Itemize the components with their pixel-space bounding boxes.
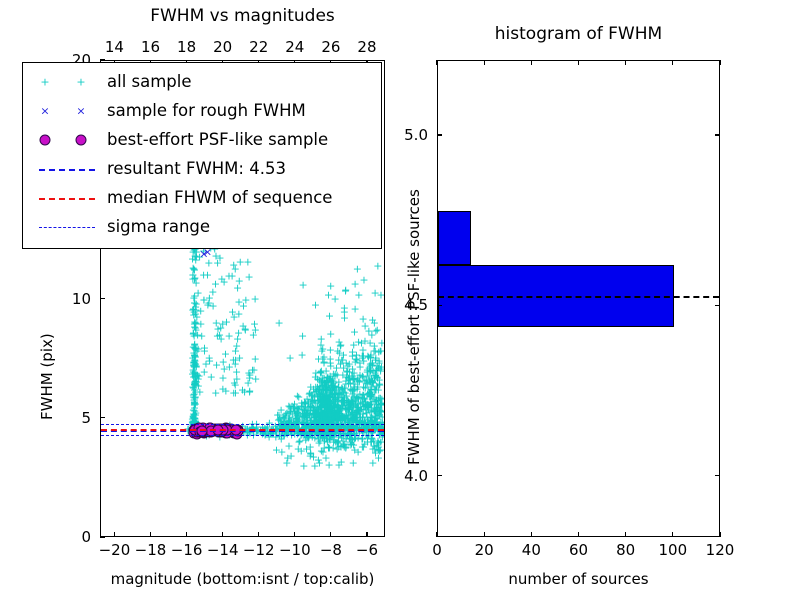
scatter-point: + bbox=[325, 460, 334, 471]
bottom-axis-tick-label: −16 bbox=[171, 541, 203, 559]
scatter-point: + bbox=[205, 356, 214, 367]
scatter-point: + bbox=[299, 460, 308, 471]
plus-icon: + + bbox=[29, 67, 107, 96]
scatter-point: + bbox=[326, 353, 335, 364]
histogram-top-tick bbox=[436, 60, 437, 65]
scatter-point: + bbox=[325, 310, 334, 321]
scatter-point: + bbox=[234, 296, 243, 307]
histogram-top-tick bbox=[578, 60, 579, 65]
histogram-x-tick-label: 0 bbox=[432, 541, 442, 559]
scatter-point: + bbox=[193, 369, 202, 380]
histogram-x-tick bbox=[484, 532, 485, 537]
histogram-top-tick bbox=[531, 60, 532, 65]
bottom-axis-tick bbox=[258, 532, 259, 537]
legend-label: best-effort PSF-like sample bbox=[107, 130, 328, 149]
scatter-point: + bbox=[345, 367, 354, 378]
histogram-x-tick-label: 100 bbox=[659, 541, 688, 559]
top-axis-tick-label: 24 bbox=[285, 38, 304, 56]
bottom-axis-tick bbox=[186, 532, 187, 537]
left-y-axis-tick bbox=[100, 417, 105, 418]
histogram-plot-area bbox=[438, 61, 719, 536]
top-axis-tick-label: 16 bbox=[141, 38, 160, 56]
right-ylabel: FWHM of best-effort PSF-like sources bbox=[405, 189, 423, 465]
histogram-top-tick bbox=[672, 60, 673, 65]
left-y-axis-tick-label: 10 bbox=[72, 290, 91, 308]
rough-sample-point: × bbox=[199, 249, 208, 260]
scatter-point: + bbox=[358, 313, 367, 324]
scatter-point: + bbox=[298, 350, 307, 361]
scatter-point: + bbox=[193, 329, 202, 340]
scatter-point: + bbox=[351, 279, 360, 290]
scatter-point: + bbox=[274, 318, 283, 329]
scatter-point: + bbox=[217, 333, 226, 344]
cross-icon: × × bbox=[29, 96, 107, 125]
bottom-axis-tick bbox=[366, 532, 367, 537]
bottom-axis-tick bbox=[294, 532, 295, 537]
legend-label: all sample bbox=[107, 72, 192, 91]
histogram-y-tick-right bbox=[715, 134, 720, 135]
scatter-point: + bbox=[249, 364, 258, 375]
histogram-axes bbox=[437, 60, 720, 537]
top-axis-tick-label: 20 bbox=[213, 38, 232, 56]
histogram-top-tick bbox=[719, 60, 720, 65]
bottom-axis-tick-label: −18 bbox=[135, 541, 167, 559]
scatter-point: + bbox=[191, 308, 200, 319]
scatter-point: + bbox=[249, 329, 258, 340]
scatter-point: + bbox=[351, 304, 360, 315]
legend-item-rough-fwhm[interactable]: × × sample for rough FWHM bbox=[29, 96, 381, 125]
left-y-axis-tick bbox=[100, 59, 105, 60]
reference-line bbox=[101, 435, 384, 436]
left-xlabel: magnitude (bottom:isnt / top:calib) bbox=[100, 570, 385, 588]
scatter-point: + bbox=[373, 260, 382, 271]
scatter-point: + bbox=[298, 279, 307, 290]
dashed-line-icon bbox=[29, 154, 107, 183]
scatter-point: + bbox=[194, 343, 203, 354]
histogram-top-tick bbox=[484, 60, 485, 65]
legend-item-median-fwhm[interactable]: median FHWM of sequence bbox=[29, 183, 381, 212]
scatter-point: + bbox=[376, 363, 384, 374]
bottom-axis-tick-label: −20 bbox=[99, 541, 131, 559]
histogram-x-tick bbox=[436, 532, 437, 537]
histogram-x-tick-label: 20 bbox=[475, 541, 494, 559]
scatter-point: + bbox=[349, 457, 358, 468]
bottom-axis-tick-label: −6 bbox=[356, 541, 378, 559]
histogram-y-tick-label: 4.0 bbox=[404, 467, 428, 485]
legend-label: sigma range bbox=[107, 217, 210, 236]
left-y-axis-tick-label: 0 bbox=[81, 528, 91, 546]
scatter-point: + bbox=[243, 256, 252, 267]
scatter-point: + bbox=[189, 264, 198, 275]
left-ylabel: FWHM (pix) bbox=[38, 333, 56, 420]
scatter-point: + bbox=[373, 325, 382, 336]
top-axis-tick-label: 18 bbox=[177, 38, 196, 56]
left-y-axis-tick-label: 5 bbox=[81, 409, 91, 427]
scatter-point: + bbox=[326, 280, 335, 291]
scatter-point: + bbox=[211, 250, 220, 261]
right-xlabel: number of sources bbox=[437, 570, 720, 588]
top-axis-tick-label: 28 bbox=[357, 38, 376, 56]
scatter-point: + bbox=[205, 292, 214, 303]
legend-box: + + all sample × × sample for rough FWHM… bbox=[22, 62, 382, 249]
dashed-line-icon bbox=[29, 183, 107, 212]
histogram-x-tick-label: 80 bbox=[616, 541, 635, 559]
scatter-point: + bbox=[334, 460, 343, 471]
dashdot-line-icon bbox=[29, 212, 107, 241]
scatter-point: + bbox=[370, 341, 379, 352]
histogram-x-tick bbox=[672, 532, 673, 537]
scatter-point: + bbox=[335, 347, 344, 358]
legend-item-psf-sample[interactable]: best-effort PSF-like sample bbox=[29, 125, 381, 154]
histogram-reference-line bbox=[438, 296, 719, 298]
histogram-y-tick-label: 5.0 bbox=[404, 126, 428, 144]
scatter-point: + bbox=[371, 288, 380, 299]
histogram-bar bbox=[438, 211, 471, 266]
scatter-point: + bbox=[325, 374, 334, 385]
legend-label: sample for rough FWHM bbox=[107, 101, 306, 120]
scatter-point: + bbox=[218, 319, 227, 330]
left-y-axis-tick bbox=[100, 298, 105, 299]
legend-item-sigma-range[interactable]: sigma range bbox=[29, 212, 381, 241]
scatter-point: + bbox=[359, 350, 368, 361]
bottom-axis-tick bbox=[330, 532, 331, 537]
scatter-point: + bbox=[340, 313, 349, 324]
scatter-point: + bbox=[359, 275, 368, 286]
scatter-point: + bbox=[328, 393, 337, 404]
legend-label: median FHWM of sequence bbox=[107, 188, 332, 207]
circle-icon bbox=[29, 125, 107, 154]
histogram-x-tick bbox=[531, 532, 532, 537]
scatter-point: + bbox=[341, 285, 350, 296]
bottom-axis-tick bbox=[222, 532, 223, 537]
reference-line bbox=[101, 429, 384, 431]
histogram-x-tick-label: 60 bbox=[569, 541, 588, 559]
histogram-x-tick bbox=[578, 532, 579, 537]
legend-item-all-sample[interactable]: + + all sample bbox=[29, 67, 381, 96]
scatter-point: + bbox=[211, 388, 220, 399]
scatter-point: + bbox=[282, 458, 291, 469]
histogram-y-tick-right bbox=[715, 475, 720, 476]
histogram-top-tick bbox=[625, 60, 626, 65]
top-axis-tick-label: 26 bbox=[321, 38, 340, 56]
left-y-axis-tick bbox=[100, 536, 105, 537]
legend-item-resultant-fwhm[interactable]: resultant FWHM: 4.53 bbox=[29, 154, 381, 183]
bottom-axis-tick-label: −12 bbox=[243, 541, 275, 559]
scatter-point: + bbox=[298, 330, 307, 341]
scatter-point: + bbox=[370, 385, 379, 396]
histogram-y-tick bbox=[437, 305, 442, 306]
scatter-point: + bbox=[364, 325, 373, 336]
scatter-point: + bbox=[207, 371, 216, 382]
histogram-x-tick bbox=[719, 532, 720, 537]
scatter-point: + bbox=[307, 395, 316, 406]
legend-label: resultant FWHM: 4.53 bbox=[107, 159, 286, 178]
scatter-point: + bbox=[219, 357, 228, 368]
scatter-point: + bbox=[290, 406, 299, 417]
figure-canvas: FWHM vs magnitudes +++++++++++++++++++++… bbox=[0, 0, 800, 600]
scatter-point: + bbox=[232, 374, 241, 385]
scatter-point: + bbox=[243, 378, 252, 389]
scatter-point: + bbox=[302, 444, 311, 455]
scatter-point: + bbox=[251, 294, 260, 305]
bottom-axis-tick-label: −10 bbox=[279, 541, 311, 559]
bottom-axis-tick-label: −8 bbox=[320, 541, 342, 559]
left-panel-title: FWHM vs magnitudes bbox=[100, 6, 385, 26]
scatter-point: + bbox=[233, 282, 242, 293]
bottom-axis-tick-label: −14 bbox=[207, 541, 239, 559]
histogram-y-tick bbox=[437, 134, 442, 135]
scatter-point: + bbox=[370, 444, 379, 455]
histogram-x-tick-label: 40 bbox=[522, 541, 541, 559]
scatter-point: + bbox=[334, 441, 343, 452]
histogram-x-tick-label: 120 bbox=[706, 541, 735, 559]
scatter-point: + bbox=[311, 299, 320, 310]
scatter-point: + bbox=[284, 440, 293, 451]
histogram-y-tick bbox=[437, 475, 442, 476]
scatter-point: + bbox=[286, 353, 295, 364]
histogram-y-tick-right bbox=[715, 305, 720, 306]
right-panel-title: histogram of FWHM bbox=[437, 24, 720, 44]
scatter-point: + bbox=[218, 373, 227, 384]
histogram-x-tick bbox=[625, 532, 626, 537]
top-axis-tick-label: 22 bbox=[249, 38, 268, 56]
scatter-point: + bbox=[229, 260, 238, 271]
scatter-point: + bbox=[244, 271, 253, 282]
scatter-point: + bbox=[233, 334, 242, 345]
reference-line bbox=[101, 424, 384, 425]
scatter-point: + bbox=[330, 294, 339, 305]
scatter-point: + bbox=[354, 289, 363, 300]
scatter-point: + bbox=[350, 327, 359, 338]
scatter-point: + bbox=[349, 340, 358, 351]
scatter-point: + bbox=[195, 386, 204, 397]
scatter-point: + bbox=[310, 460, 319, 471]
top-axis-tick-label: 14 bbox=[105, 38, 124, 56]
scatter-point: + bbox=[361, 397, 370, 408]
bottom-axis-tick bbox=[150, 532, 151, 537]
bottom-axis-tick bbox=[114, 532, 115, 537]
